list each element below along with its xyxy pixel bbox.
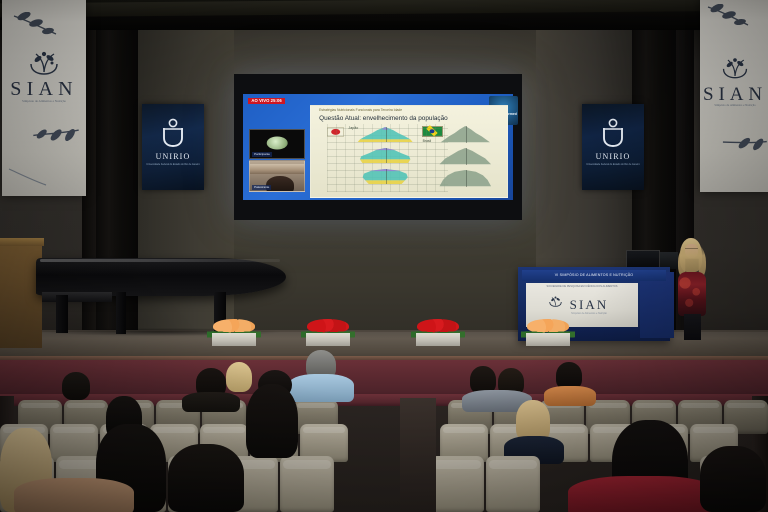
- unirio-u-icon: [160, 118, 186, 153]
- banner-sian-left: SIAN Simpósio de Alimentos e Nutrição: [2, 0, 86, 196]
- presenter-torso: [678, 272, 706, 316]
- audience-person-head: [700, 446, 766, 512]
- plaque-wordmark: SIAN: [556, 298, 609, 311]
- population-pyramid-brazil: [436, 148, 495, 165]
- audience-person-shoulders: [288, 374, 354, 402]
- presenter-legs: [684, 314, 701, 340]
- background-shelf: [250, 164, 304, 174]
- audience-person-head: [226, 362, 252, 392]
- leaf-ornament-icon: [28, 107, 83, 156]
- audience-seat: [280, 456, 334, 512]
- slide-title: Questão Atual: envelhecimento da populaç…: [319, 115, 499, 122]
- unirio-subtitle: Universidade Federal do Estado do Rio de…: [146, 163, 200, 166]
- live-badge: AO VIVO 25:06: [248, 98, 284, 104]
- unirio-wordmark: UNIRIO: [596, 152, 631, 161]
- leaf-ornament-icon: [706, 4, 750, 32]
- piano-lid-edge: [40, 259, 280, 262]
- population-pyramid-japan: [352, 169, 418, 185]
- orange-flower-planter: [206, 316, 262, 346]
- presentation-slide: Estratégias Nutricionais Funcionais para…: [310, 105, 507, 198]
- red-flower-planter: [300, 316, 356, 346]
- population-pyramid-brazil: [436, 170, 495, 187]
- grand-piano: [36, 258, 286, 296]
- table-drape: [640, 272, 674, 338]
- participant-name: Palestrante: [252, 185, 271, 190]
- banner-sian-right: SIAN Simpósio de Alimentos e Nutrição: [700, 0, 768, 192]
- red-flower-planter: [410, 316, 466, 346]
- piano-leg: [116, 292, 126, 334]
- slide-header: Estratégias Nutricionais Funcionais para…: [319, 108, 499, 112]
- table-banner-text: VI SIMPÓSIO DE ALIMENTOS E NUTRIÇÃO: [555, 274, 634, 278]
- orange-flower-planter: [520, 316, 576, 346]
- plaque-subtitle: SOCIEDADE DE PESQUISA EM CIÊNCIA DOS ALI…: [546, 286, 617, 289]
- unirio-wordmark: UNIRIO: [156, 152, 191, 161]
- leaf-ornament-icon: [12, 12, 58, 42]
- banner-unirio-left: UNIRIO Universidade Federal do Estado do…: [142, 104, 204, 190]
- piano-leg: [56, 295, 68, 333]
- leaf-ornament-icon: [8, 166, 48, 188]
- sian-subtitle: Simpósio de Alimentos e Nutrição: [22, 99, 66, 103]
- avatar: [267, 136, 288, 149]
- auditorium-photo: SIAN Simpósio de Alimentos e Nutrição: [0, 0, 768, 512]
- participant-tile: Palestrante: [249, 160, 305, 192]
- audience-person-shoulders: [14, 478, 134, 512]
- audience-person-head: [62, 372, 90, 400]
- population-pyramid-japan: [352, 148, 418, 164]
- population-pyramid-brazil: [436, 126, 495, 143]
- audience-seat: [486, 456, 540, 512]
- table-banner: VI SIMPÓSIO DE ALIMENTOS E NUTRIÇÃO: [522, 270, 666, 281]
- sian-subtitle: Simpósio de Alimentos e Nutrição: [714, 103, 755, 107]
- audience-person-shoulders: [182, 392, 240, 412]
- audience-person-shoulders: [568, 476, 718, 512]
- participant-name: Participante: [252, 152, 272, 157]
- center-aisle: [400, 398, 436, 512]
- unirio-u-icon: [600, 118, 626, 153]
- audience-person-shoulders: [544, 386, 596, 406]
- piano-keybed: [42, 292, 112, 302]
- presenter-woman: [672, 238, 712, 340]
- projection-screen: AO VIVO 25:06 Participante Palestrante T…: [234, 74, 522, 220]
- lectern-top: [0, 238, 44, 246]
- sian-wordmark: SIAN: [10, 78, 77, 101]
- participant-tile: Participante: [249, 129, 305, 158]
- sian-logo-icon: [720, 56, 750, 85]
- audience-person-head: [246, 384, 298, 458]
- audience-person-head: [168, 444, 244, 512]
- sian-logo-icon: [27, 50, 61, 81]
- leaf-ornament-icon: [718, 118, 768, 162]
- banner-unirio-right: UNIRIO Universidade Federal do Estado do…: [582, 104, 644, 190]
- audience-seat: [430, 456, 484, 512]
- unirio-subtitle: Universidade Federal do Estado do Rio de…: [586, 163, 640, 166]
- population-pyramid-japan: [352, 127, 418, 143]
